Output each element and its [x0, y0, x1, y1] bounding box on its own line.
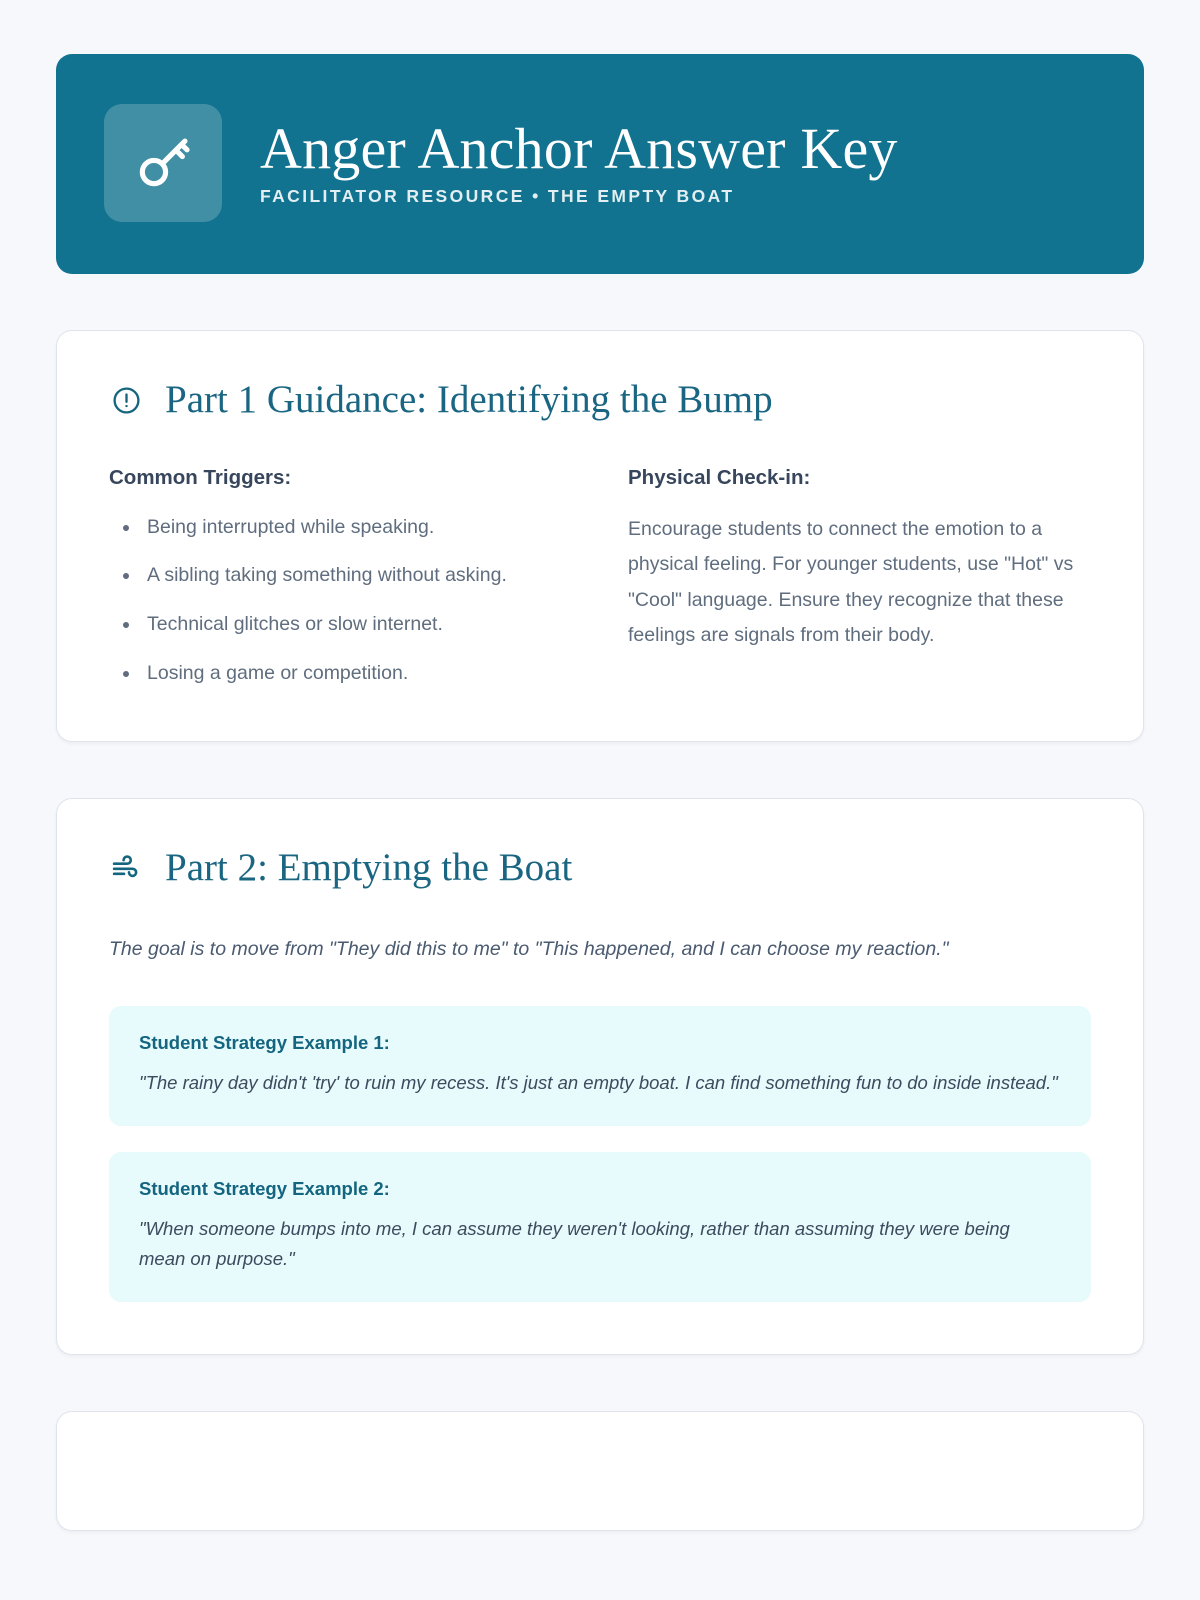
- page-title: Anger Anchor Answer Key: [260, 119, 898, 180]
- common-triggers-list: Being interrupted while speaking. A sibl…: [109, 512, 572, 689]
- part2-heading-row: Part 2: Emptying the Boat: [109, 847, 1091, 890]
- common-triggers-column: Common Triggers: Being interrupted while…: [109, 466, 572, 689]
- part2-card: Part 2: Emptying the Boat The goal is to…: [56, 798, 1144, 1354]
- common-triggers-title: Common Triggers:: [109, 466, 572, 490]
- list-item: A sibling taking something without askin…: [109, 560, 572, 592]
- header-icon-tile: [104, 104, 222, 222]
- list-item: Losing a game or competition.: [109, 658, 572, 690]
- wind-icon: [109, 852, 143, 886]
- physical-checkin-title: Physical Check-in:: [628, 466, 1091, 490]
- part1-heading-text: Part 1 Guidance: Identifying the Bump: [165, 379, 773, 422]
- alert-circle-icon: [109, 383, 143, 417]
- physical-checkin-paragraph: Encourage students to connect the emotio…: [628, 512, 1091, 654]
- part2-heading-text: Part 2: Emptying the Boat: [165, 847, 572, 890]
- strategy-example-box: Student Strategy Example 1: "The rainy d…: [109, 1006, 1091, 1126]
- strategy-label: Student Strategy Example 2:: [139, 1178, 1061, 1200]
- key-icon: [132, 132, 194, 194]
- answer-key-page: Anger Anchor Answer Key FACILITATOR RESO…: [0, 0, 1200, 1600]
- header-text-block: Anger Anchor Answer Key FACILITATOR RESO…: [260, 119, 898, 207]
- next-card-partial: [56, 1411, 1144, 1531]
- page-subtitle: FACILITATOR RESOURCE • THE EMPTY BOAT: [260, 186, 898, 207]
- strategy-example-box: Student Strategy Example 2: "When someon…: [109, 1152, 1091, 1302]
- part2-lead-text: The goal is to move from "They did this …: [109, 934, 1091, 966]
- list-item: Technical glitches or slow internet.: [109, 609, 572, 641]
- strategy-quote: "When someone bumps into me, I can assum…: [139, 1214, 1061, 1274]
- strategy-label: Student Strategy Example 1:: [139, 1032, 1061, 1054]
- part1-card: Part 1 Guidance: Identifying the Bump Co…: [56, 330, 1144, 742]
- list-item: Being interrupted while speaking.: [109, 512, 572, 544]
- physical-checkin-column: Physical Check-in: Encourage students to…: [628, 466, 1091, 689]
- part1-heading-row: Part 1 Guidance: Identifying the Bump: [109, 379, 1091, 422]
- strategy-quote: "The rainy day didn't 'try' to ruin my r…: [139, 1068, 1061, 1098]
- page-header-banner: Anger Anchor Answer Key FACILITATOR RESO…: [56, 54, 1144, 274]
- part1-columns: Common Triggers: Being interrupted while…: [109, 466, 1091, 689]
